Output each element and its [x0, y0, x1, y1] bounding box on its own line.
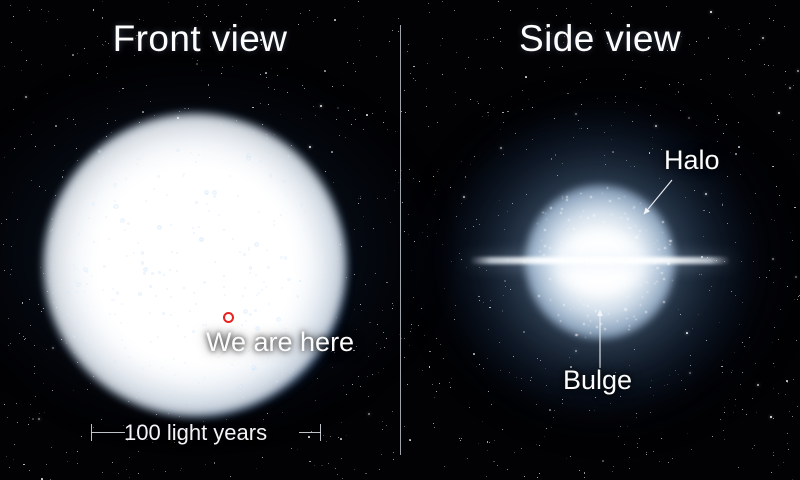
star: [260, 103, 261, 104]
star: [753, 153, 755, 155]
star: [9, 467, 10, 468]
star: [789, 87, 791, 89]
star: [794, 207, 796, 209]
star: [205, 4, 206, 5]
star: [426, 88, 427, 89]
galaxy-star-cluster: [204, 377, 206, 379]
star: [341, 422, 342, 423]
star: [19, 333, 20, 334]
galaxy-star-cluster: [249, 266, 252, 269]
bulge-star: [645, 311, 647, 313]
star: [478, 103, 479, 104]
star: [613, 466, 614, 467]
star: [411, 270, 412, 271]
star: [618, 436, 619, 437]
bulge-star: [550, 207, 552, 209]
star: [455, 92, 456, 93]
star: [368, 356, 369, 357]
star: [10, 343, 11, 344]
bulge-star: [583, 210, 585, 212]
star: [138, 473, 139, 474]
bulge-star: [617, 320, 619, 322]
star: [46, 464, 47, 465]
bulge-star: [635, 236, 637, 238]
galaxy-star-cluster: [268, 303, 270, 305]
star: [615, 96, 616, 97]
galaxy-star-cluster: [254, 309, 257, 312]
galaxy-star-cluster: [116, 291, 119, 294]
star: [434, 427, 435, 428]
galaxy-star-cluster: [51, 218, 53, 220]
star: [354, 229, 355, 230]
galaxy-star-cluster: [244, 287, 246, 289]
galaxy-star-cluster: [133, 252, 135, 254]
star: [653, 451, 654, 452]
scale-bar: 100 light years: [88, 420, 324, 450]
star: [393, 459, 394, 460]
star: [409, 345, 410, 346]
star: [602, 460, 604, 462]
star: [43, 308, 44, 309]
bulge-star: [663, 278, 665, 280]
star: [521, 448, 522, 449]
star: [27, 7, 28, 8]
star: [444, 288, 445, 289]
bulge-star: [640, 304, 642, 306]
galaxy-star-cluster: [258, 211, 260, 213]
star: [778, 465, 779, 466]
star: [14, 444, 15, 445]
star: [754, 445, 755, 446]
star: [487, 441, 489, 443]
star: [11, 269, 12, 270]
star: [51, 447, 52, 448]
star: [454, 10, 455, 11]
bulge-star: [663, 301, 665, 303]
star: [669, 84, 670, 85]
star: [106, 77, 107, 78]
star: [785, 394, 786, 395]
star: [332, 86, 333, 87]
star: [429, 366, 431, 368]
star: [639, 438, 640, 439]
galaxy-star-cluster: [166, 288, 168, 290]
star: [4, 66, 5, 67]
bulge-star: [542, 212, 544, 214]
star: [372, 113, 373, 114]
star: [34, 345, 35, 346]
star: [33, 122, 34, 123]
galaxy-star-cluster: [84, 290, 86, 292]
star: [494, 440, 495, 441]
star: [413, 178, 414, 179]
star: [723, 430, 724, 431]
star: [772, 166, 774, 168]
bulge-star: [602, 305, 604, 307]
star: [35, 146, 36, 147]
bulge-star: [583, 304, 585, 306]
star: [794, 299, 795, 300]
star: [738, 467, 739, 468]
star: [338, 437, 339, 438]
star: [528, 99, 529, 100]
galaxy-star-cluster: [83, 267, 88, 272]
galaxy-star-cluster: [58, 242, 60, 244]
star: [556, 15, 557, 16]
star: [615, 102, 616, 103]
galaxy-star-cluster: [114, 313, 116, 315]
star: [17, 219, 18, 220]
galaxy-star-cluster: [258, 292, 260, 294]
star: [766, 277, 767, 278]
star: [777, 204, 778, 205]
star: [39, 413, 40, 414]
bulge-star: [568, 219, 570, 221]
star: [597, 98, 599, 100]
galaxy-star-cluster: [174, 374, 176, 376]
star: [778, 112, 780, 114]
star: [675, 94, 676, 95]
bulge-star: [560, 212, 562, 214]
star: [478, 443, 479, 444]
bulge-star: [661, 272, 663, 274]
star: [12, 192, 13, 193]
star: [637, 447, 639, 449]
star: [470, 99, 471, 100]
star: [646, 452, 647, 453]
star: [746, 414, 747, 415]
star: [570, 16, 571, 17]
star: [201, 70, 202, 71]
star: [377, 198, 378, 199]
star: [666, 6, 667, 7]
galaxy-star-cluster: [254, 242, 259, 247]
star: [752, 448, 753, 449]
star: [337, 474, 338, 475]
star: [480, 68, 481, 69]
star: [539, 445, 540, 446]
star: [546, 428, 547, 429]
star: [330, 436, 331, 437]
galaxy-star-cluster: [157, 336, 159, 338]
star: [23, 336, 24, 337]
star: [422, 370, 423, 371]
star: [11, 246, 12, 247]
star: [29, 470, 30, 471]
galaxy-star-cluster: [202, 324, 204, 326]
star: [337, 107, 339, 109]
star: [753, 261, 754, 262]
galaxy-star-cluster: [87, 305, 89, 307]
star: [385, 111, 386, 112]
bulge-star: [664, 247, 666, 249]
star: [427, 236, 428, 237]
star: [780, 309, 781, 310]
star: [355, 119, 356, 120]
star: [720, 419, 721, 420]
galaxy-star-cluster: [103, 265, 106, 268]
star: [411, 328, 412, 329]
star: [41, 311, 42, 312]
galaxy-star-cluster: [66, 290, 69, 293]
star: [360, 198, 361, 199]
star: [230, 476, 231, 477]
star: [570, 456, 571, 457]
star: [731, 97, 732, 98]
galaxy-star-cluster: [136, 163, 138, 165]
star: [309, 461, 310, 462]
star: [7, 417, 8, 418]
star: [360, 386, 361, 387]
galaxy-star-cluster: [206, 203, 208, 205]
halo-label: Halo: [664, 145, 720, 176]
galaxy-star-cluster: [223, 286, 225, 288]
star: [314, 465, 315, 466]
star: [419, 181, 420, 182]
star: [16, 403, 17, 404]
star: [691, 449, 692, 450]
star: [773, 452, 774, 453]
star: [435, 190, 436, 191]
star: [773, 363, 774, 364]
star: [404, 231, 405, 232]
star: [360, 196, 361, 197]
star: [562, 66, 563, 67]
star: [402, 202, 403, 203]
star: [549, 67, 550, 68]
star: [532, 107, 533, 108]
star: [360, 304, 361, 305]
galaxy-star-cluster: [92, 202, 95, 205]
star: [544, 81, 545, 82]
star: [442, 1, 443, 2]
star: [320, 105, 322, 107]
star: [302, 85, 303, 86]
bulge-star: [549, 247, 551, 249]
star: [754, 96, 755, 97]
star: [785, 71, 786, 72]
star: [206, 16, 207, 17]
star: [750, 213, 751, 214]
star: [768, 65, 769, 66]
star: [6, 219, 7, 220]
star: [522, 90, 523, 91]
galaxy-star-cluster: [304, 211, 306, 213]
star: [188, 108, 189, 109]
galaxy-star-cluster: [74, 268, 76, 270]
star: [795, 276, 797, 278]
star: [498, 1, 499, 2]
star: [268, 104, 269, 105]
star: [434, 194, 435, 195]
star: [363, 216, 364, 217]
star: [106, 66, 107, 67]
star: [752, 398, 753, 399]
galaxy-star-cluster: [282, 180, 285, 183]
star: [792, 479, 793, 480]
star: [404, 357, 405, 358]
star: [379, 469, 380, 470]
star: [368, 396, 369, 397]
star: [522, 109, 523, 110]
star: [326, 441, 328, 443]
star: [375, 273, 376, 274]
star: [346, 394, 347, 395]
star: [711, 103, 712, 104]
star: [778, 339, 779, 340]
star: [625, 74, 626, 75]
star: [43, 383, 44, 384]
galaxy-star-cluster: [246, 156, 251, 161]
star: [780, 268, 781, 269]
star: [347, 62, 348, 63]
bulge-star: [608, 313, 610, 315]
star: [344, 7, 345, 8]
star: [779, 195, 781, 197]
star: [129, 477, 130, 478]
star: [712, 436, 713, 437]
star: [208, 84, 210, 86]
star: [773, 455, 774, 456]
star: [356, 346, 357, 347]
star: [659, 461, 660, 462]
bulge-label: Bulge: [563, 365, 632, 396]
galaxy-star-cluster: [77, 321, 80, 324]
star: [796, 340, 797, 341]
star: [204, 14, 205, 15]
spiral-galaxy-illustration: [45, 115, 345, 415]
star: [459, 438, 460, 439]
bulge-star: [587, 315, 589, 317]
star: [129, 457, 130, 458]
star: [112, 462, 113, 463]
bulge-star: [590, 196, 592, 198]
star: [493, 461, 495, 463]
star: [636, 413, 637, 414]
star: [262, 457, 263, 458]
star: [432, 384, 433, 385]
star: [3, 244, 4, 245]
star: [29, 10, 30, 11]
star: [25, 338, 26, 339]
star: [38, 304, 39, 305]
star: [611, 13, 612, 14]
star: [310, 461, 311, 462]
star: [4, 404, 6, 406]
star: [772, 342, 773, 343]
star: [404, 338, 405, 339]
galaxy-star-cluster: [72, 334, 77, 339]
star: [501, 67, 502, 68]
bulge-star: [600, 323, 602, 325]
galaxy-star-cluster: [138, 292, 141, 295]
star: [405, 112, 406, 113]
star: [789, 411, 790, 412]
star: [510, 10, 511, 11]
star: [266, 9, 267, 10]
bulge-star: [628, 329, 630, 331]
star: [427, 63, 428, 64]
star: [252, 107, 254, 109]
star: [361, 310, 362, 311]
galaxy-star-cluster: [61, 273, 63, 275]
star: [368, 413, 370, 415]
star: [442, 244, 444, 246]
bulge-star: [631, 227, 633, 229]
star: [355, 71, 356, 72]
star: [341, 458, 342, 459]
star: [636, 417, 637, 418]
star: [792, 240, 793, 241]
star: [377, 324, 378, 325]
star: [678, 82, 679, 83]
bulge-star: [618, 198, 620, 200]
star: [122, 88, 124, 90]
star: [752, 94, 753, 95]
star: [579, 470, 580, 471]
star: [346, 277, 347, 278]
star: [553, 417, 554, 418]
star: [181, 468, 182, 469]
star: [680, 110, 681, 111]
star: [268, 87, 270, 89]
star: [398, 182, 399, 183]
bulge-star: [567, 229, 569, 231]
star: [467, 458, 468, 459]
galaxy-star-cluster: [91, 275, 93, 277]
scale-bar-label: 100 light years: [124, 420, 267, 446]
star: [581, 104, 582, 105]
star: [775, 5, 776, 6]
star: [710, 11, 712, 13]
star: [390, 222, 391, 223]
bulge-star: [646, 230, 648, 232]
figure-canvas: Front view We are here 100 light years S…: [0, 0, 800, 480]
galaxy-star-cluster: [189, 310, 191, 312]
star: [382, 310, 383, 311]
galaxy-star-cluster: [198, 396, 201, 399]
star: [428, 3, 429, 4]
star: [646, 454, 647, 455]
galaxy-star-cluster: [98, 170, 100, 172]
star: [209, 97, 211, 99]
star: [153, 469, 154, 470]
star: [623, 79, 624, 80]
star: [354, 469, 355, 470]
galaxy-star-cluster: [155, 295, 157, 297]
galaxy-star-cluster: [275, 380, 278, 383]
galaxy-star-cluster: [126, 255, 128, 257]
star: [773, 92, 774, 93]
galaxy-star-cluster: [78, 233, 80, 235]
star: [792, 416, 793, 417]
star: [436, 233, 437, 234]
star: [386, 282, 388, 284]
star: [502, 429, 503, 430]
scale-bar-right-rule: [299, 432, 321, 433]
star: [788, 449, 789, 450]
star: [222, 67, 223, 68]
star: [401, 338, 402, 339]
galaxy-star-cluster: [121, 303, 123, 305]
bulge-star: [593, 214, 595, 216]
bulge-star: [603, 221, 605, 223]
star: [769, 270, 770, 271]
sun-position-marker-icon: [223, 312, 234, 323]
star: [787, 433, 788, 434]
star: [482, 421, 483, 422]
star: [34, 373, 35, 374]
